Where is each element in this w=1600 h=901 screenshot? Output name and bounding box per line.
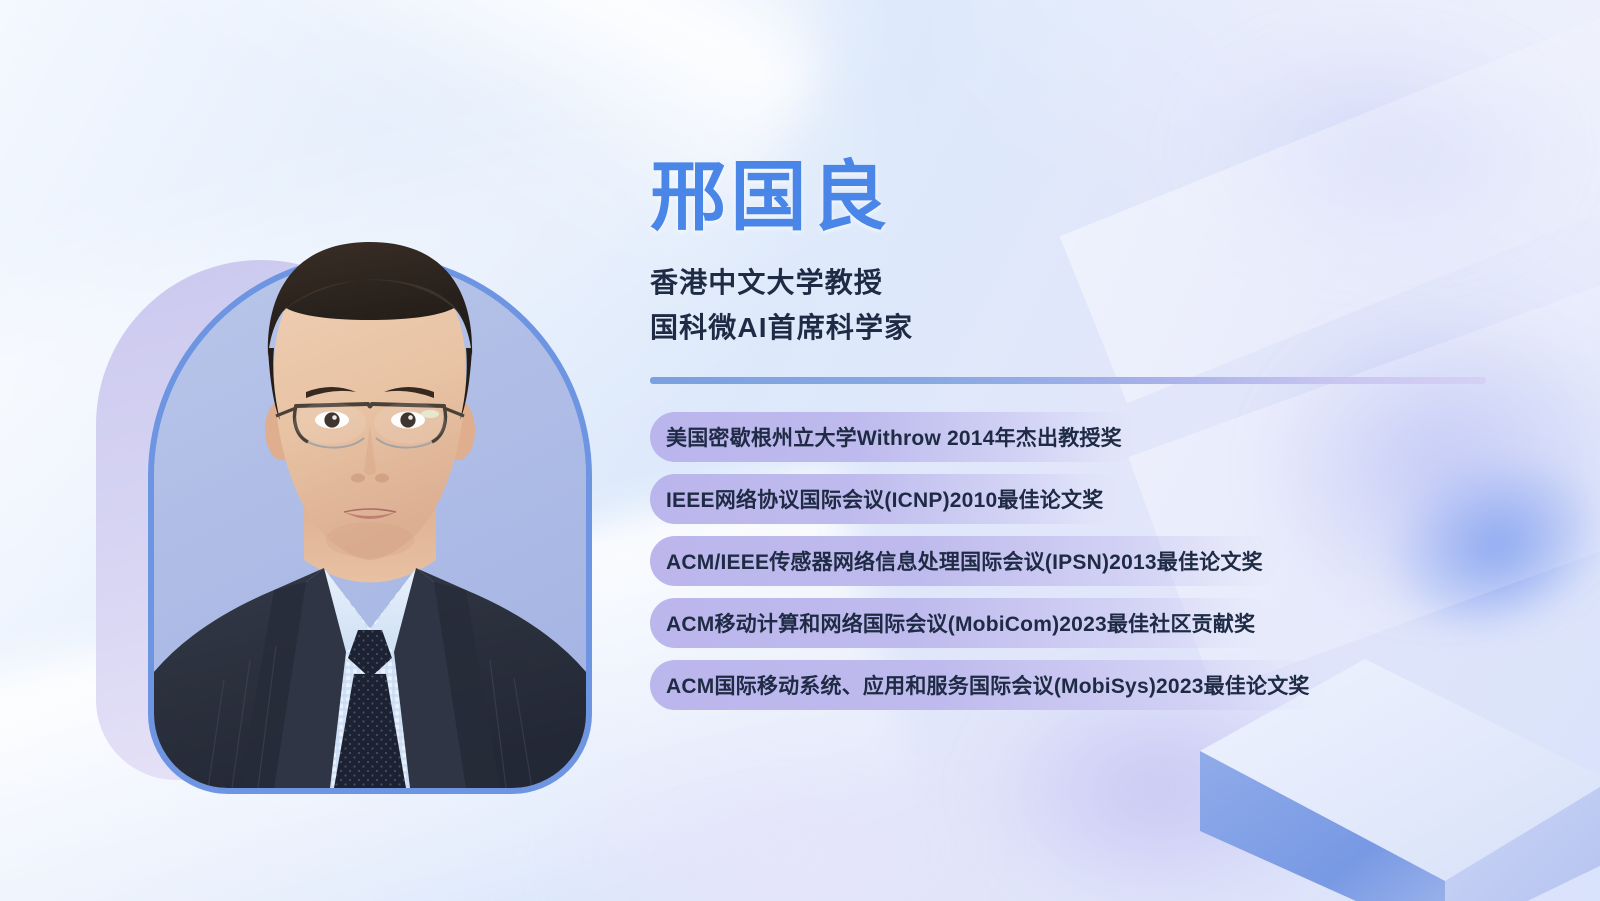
portrait-container [96,100,616,800]
award-label: 美国密歇根州立大学Withrow 2014年杰出教授奖 [666,422,1122,452]
award-label: ACM国际移动系统、应用和服务国际会议(MobiSys)2023最佳论文奖 [666,670,1310,700]
section-divider [650,377,1486,384]
award-item: IEEE网络协议国际会议(ICNP)2010最佳论文奖 [650,474,1121,524]
award-item: ACM/IEEE传感器网络信息处理国际会议(IPSN)2013最佳论文奖 [650,536,1281,586]
person-title-2: 国科微AI首席科学家 [650,305,1550,350]
award-item: ACM国际移动系统、应用和服务国际会议(MobiSys)2023最佳论文奖 [650,660,1328,710]
person-name: 邢国良 [650,158,1550,238]
award-label: IEEE网络协议国际会议(ICNP)2010最佳论文奖 [666,484,1103,514]
awards-list: 美国密歇根州立大学Withrow 2014年杰出教授奖 IEEE网络协议国际会议… [650,412,1550,710]
portrait-head [154,120,586,788]
award-item: ACM移动计算和网络国际会议(MobiCom)2023最佳社区贡献奖 [650,598,1273,648]
profile-card: 邢国良 香港中文大学教授 国科微AI首席科学家 美国密歇根州立大学Withrow… [0,0,1600,901]
profile-content: 邢国良 香港中文大学教授 国科微AI首席科学家 美国密歇根州立大学Withrow… [650,158,1550,710]
award-label: ACM移动计算和网络国际会议(MobiCom)2023最佳社区贡献奖 [666,608,1255,638]
award-item: 美国密歇根州立大学Withrow 2014年杰出教授奖 [650,412,1140,462]
person-titles: 香港中文大学教授 国科微AI首席科学家 [650,260,1550,351]
person-title-1: 香港中文大学教授 [650,260,1550,305]
award-label: ACM/IEEE传感器网络信息处理国际会议(IPSN)2013最佳论文奖 [666,546,1263,576]
